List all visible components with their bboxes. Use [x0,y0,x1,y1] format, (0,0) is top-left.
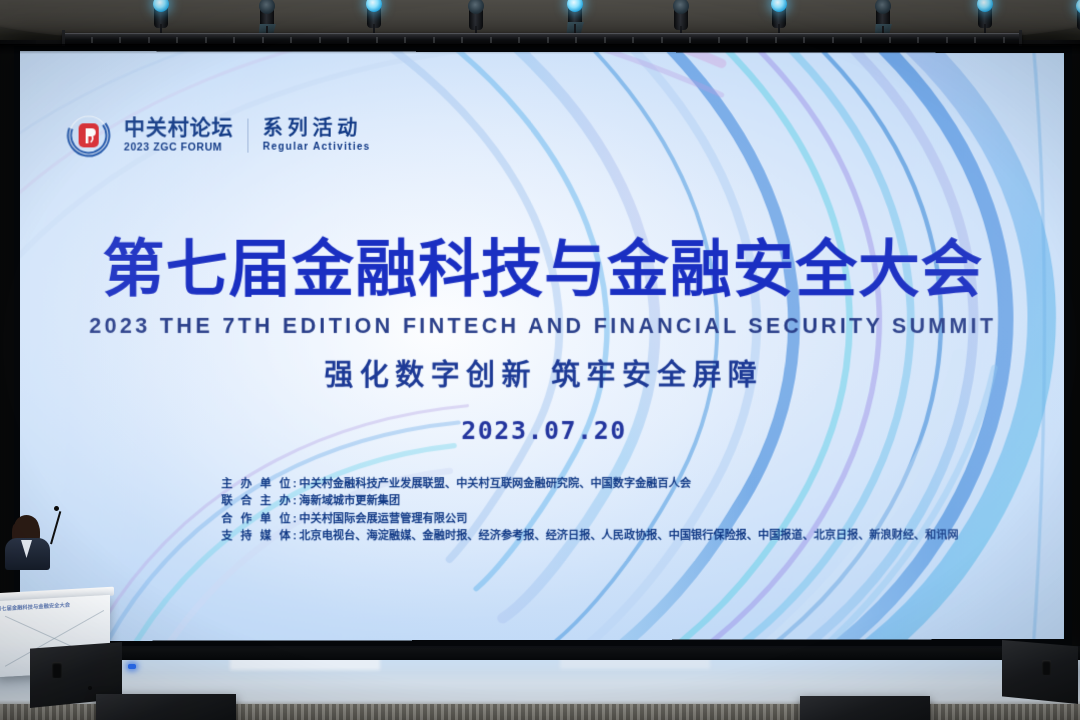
organizer-row: 支 持 媒 体: 北京电视台、海淀融媒、金融时报、经济参考报、经济日报、人民政协… [221,528,958,546]
logo-title-en: 2023 ZGC FORUM [124,141,234,153]
truss-segment [661,37,663,43]
organizer-label: 主 办 单 位: [221,476,299,493]
logo-wordmark: 中关村论坛 2023 ZGC FORUM 系列活动 Regular Activi… [124,117,371,153]
lighting-truss [62,33,1022,44]
truss-segment [433,37,435,43]
truss-segment [860,37,862,43]
truss-segment [518,37,520,43]
organizer-value: 海新域城市更新集团 [299,493,400,510]
truss-segment [917,37,919,43]
truss-segment [547,37,549,43]
led-screen-frame: 中关村论坛 2023 ZGC FORUM 系列活动 Regular Activi… [14,46,1072,646]
organizer-label: 联 合 主 办: [221,494,299,511]
microphone-icon [54,506,59,511]
truss-segment [490,37,492,43]
truss-segment [176,37,178,43]
organizer-label: 合 作 单 位: [221,511,299,528]
conference-hall-photo: 中关村论坛 2023 ZGC FORUM 系列活动 Regular Activi… [0,0,1080,720]
led-screen: 中关村论坛 2023 ZGC FORUM 系列活动 Regular Activi… [20,51,1064,641]
truss-segment [746,37,748,43]
truss-segment [718,37,720,43]
truss-segment [775,37,777,43]
truss-segment [319,37,321,43]
truss-segment [91,37,93,43]
presenter [0,516,60,578]
truss-segment [347,37,349,43]
organizer-row: 合 作 单 位: 中关村国际会展运营管理有限公司 [221,510,958,528]
presenter-hair [14,515,39,540]
organizer-list: 主 办 单 位: 中关村金融科技产业发展联盟、中关村互联网金融研究院、中国数字金… [221,476,958,546]
logo-series-cn: 系列活动 [263,118,371,140]
organizer-label: 支 持 媒 体: [221,528,299,545]
event-subtitle: 强化数字创新 筑牢安全屏障 [20,352,1064,394]
truss-segment [205,37,207,43]
screen-content: 中关村论坛 2023 ZGC FORUM 系列活动 Regular Activi… [20,51,1064,641]
truss-segment [575,37,577,43]
monitor-handle-right [1042,660,1051,675]
logo-svg [67,113,111,157]
truss-segment [376,37,378,43]
floor-monitor-center-right [800,696,930,720]
event-date: 2023.07.20 [20,416,1064,446]
light-lens-icon [673,0,689,14]
forum-logo-lockup: 中关村论坛 2023 ZGC FORUM 系列活动 Regular Activi… [67,113,371,158]
floor-monitor-center-left [96,694,236,720]
truss-segment [1003,37,1005,43]
truss-segment [604,37,606,43]
truss-segment [889,37,891,43]
organizer-value: 中关村国际会展运营管理有限公司 [299,511,467,529]
organizer-value: 中关村金融科技产业发展联盟、中关村互联网金融研究院、中国数字金融百人会 [299,476,691,494]
truss-segment [404,37,406,43]
truss-segment [148,37,150,43]
truss-segment [689,37,691,43]
event-title-en: 2023 THE 7TH EDITION FINTECH AND FINANCI… [20,314,1064,339]
zgc-forum-logo-icon [67,113,111,157]
truss-segment [262,37,264,43]
monitor-handle-left [52,662,62,678]
organizer-row: 主 办 单 位: 中关村金融科技产业发展联盟、中关村互联网金融研究院、中国数字金… [221,476,958,494]
stage-monitor-right [1002,640,1078,704]
truss-segment [233,37,235,43]
truss-segment [974,37,976,43]
truss-segment [119,37,121,43]
stage-front-edge [0,648,1080,660]
truss-segment [946,37,948,43]
logo-divider [248,119,249,153]
organizer-row: 联 合 主 办: 海新域城市更新集团 [221,493,958,511]
logo-series-en: Regular Activities [263,142,371,153]
organizer-value: 北京电视台、海淀融媒、金融时报、经济参考报、经济日报、人民政协报、中国银行保险报… [299,528,958,546]
blue-status-led [128,664,136,669]
logo-title-cn: 中关村论坛 [124,117,234,139]
truss-shadow [0,44,1080,54]
microphone-stem [50,511,61,544]
truss-segment [290,37,292,43]
monitor-dot-left [88,686,92,690]
truss-segment [461,37,463,43]
truss-segment [632,37,634,43]
truss-segment [803,37,805,43]
event-title-cn: 第七届金融科技与金融安全大会 [20,240,1064,303]
truss-segment [832,37,834,43]
